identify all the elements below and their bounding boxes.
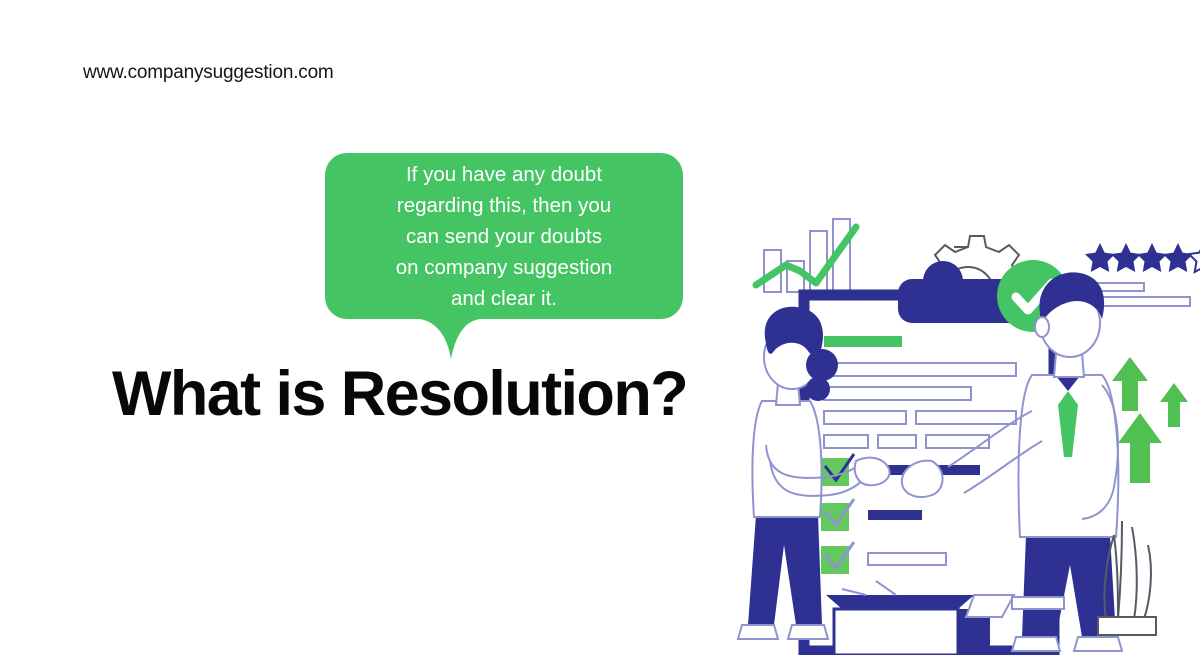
bubble-line-1: If you have any doubt [406,163,602,186]
bubble-line-2: regarding this, then you [397,194,611,217]
checklist-line-2 [868,510,922,520]
bubble-line-4: on company suggestion [396,256,613,279]
speech-bubble-text: If you have any doubt regarding this, th… [378,159,631,314]
speech-bubble-body: If you have any doubt regarding this, th… [325,153,683,319]
speech-bubble-tail-icon [420,313,480,361]
bubble-line-5: and clear it. [451,287,557,310]
speech-bubble: If you have any doubt regarding this, th… [325,153,683,358]
bubble-line-3: can send your doubts [406,225,602,248]
checklist-line-3 [868,553,946,565]
page-title: What is Resolution? [112,358,687,430]
up-arrows-icon [1112,357,1188,483]
star-empty [1189,243,1200,272]
bar-chart-icon [756,219,856,292]
banner-canvas: www.companysuggestion.com If you have an… [0,0,1200,655]
green-title-bar [824,336,902,347]
checkbox-2 [821,503,849,531]
hero-illustration [726,205,1200,655]
site-url: www.companysuggestion.com [83,62,334,84]
checkbox-3 [821,546,849,574]
